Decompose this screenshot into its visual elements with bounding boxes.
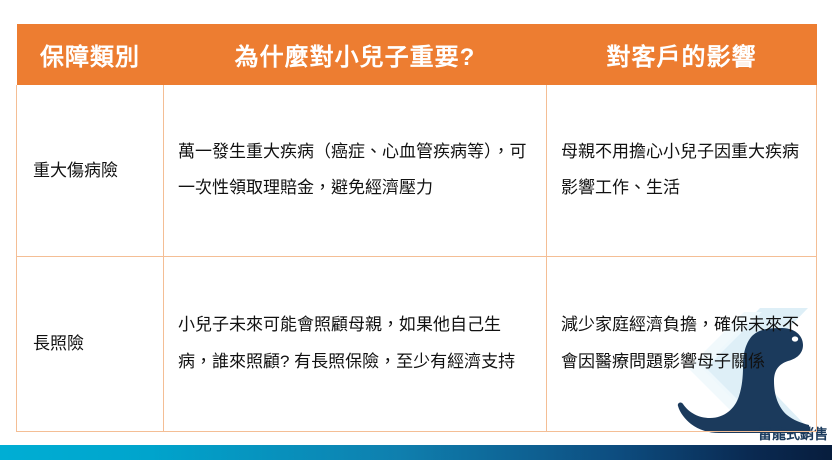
bottom-accent-bar [0,445,832,460]
slide-canvas: 雷龍式銷售 保障類別 為什麼對小兒子重要? 對客戶的影響 重大傷病險 萬一發生重… [0,0,832,460]
table-row: 長照險 小兒子未來可能會照顧母親，如果他自己生病，誰來照顧? 有長照保險，至少有… [17,256,817,431]
column-header-category: 保障類別 [17,24,164,85]
cell-category-1: 重大傷病險 [17,85,164,256]
column-header-client-impact: 對客戶的影響 [547,24,817,85]
cell-why-important-1: 萬一發生重大疾病（癌症、心血管疾病等），可一次性領取理賠金，避免經濟壓力 [164,85,547,256]
cell-category-2: 長照險 [17,256,164,431]
coverage-table: 保障類別 為什麼對小兒子重要? 對客戶的影響 重大傷病險 萬一發生重大疾病（癌症… [16,24,817,432]
cell-why-important-2: 小兒子未來可能會照顧母親，如果他自己生病，誰來照顧? 有長照保險，至少有經濟支持 [164,256,547,431]
table-body: 重大傷病險 萬一發生重大疾病（癌症、心血管疾病等），可一次性領取理賠金，避免經濟… [17,85,817,431]
table-row: 重大傷病險 萬一發生重大疾病（癌症、心血管疾病等），可一次性領取理賠金，避免經濟… [17,85,817,256]
table-header: 保障類別 為什麼對小兒子重要? 對客戶的影響 [17,24,817,85]
cell-client-impact-1: 母親不用擔心小兒子因重大疾病影響工作、生活 [547,85,817,256]
coverage-table-container: 保障類別 為什麼對小兒子重要? 對客戶的影響 重大傷病險 萬一發生重大疾病（癌症… [16,24,816,432]
column-header-why-important: 為什麼對小兒子重要? [164,24,547,85]
header-row: 保障類別 為什麼對小兒子重要? 對客戶的影響 [17,24,817,85]
cell-client-impact-2: 減少家庭經濟負擔，確保未來不會因醫療問題影響母子關係 [547,256,817,431]
